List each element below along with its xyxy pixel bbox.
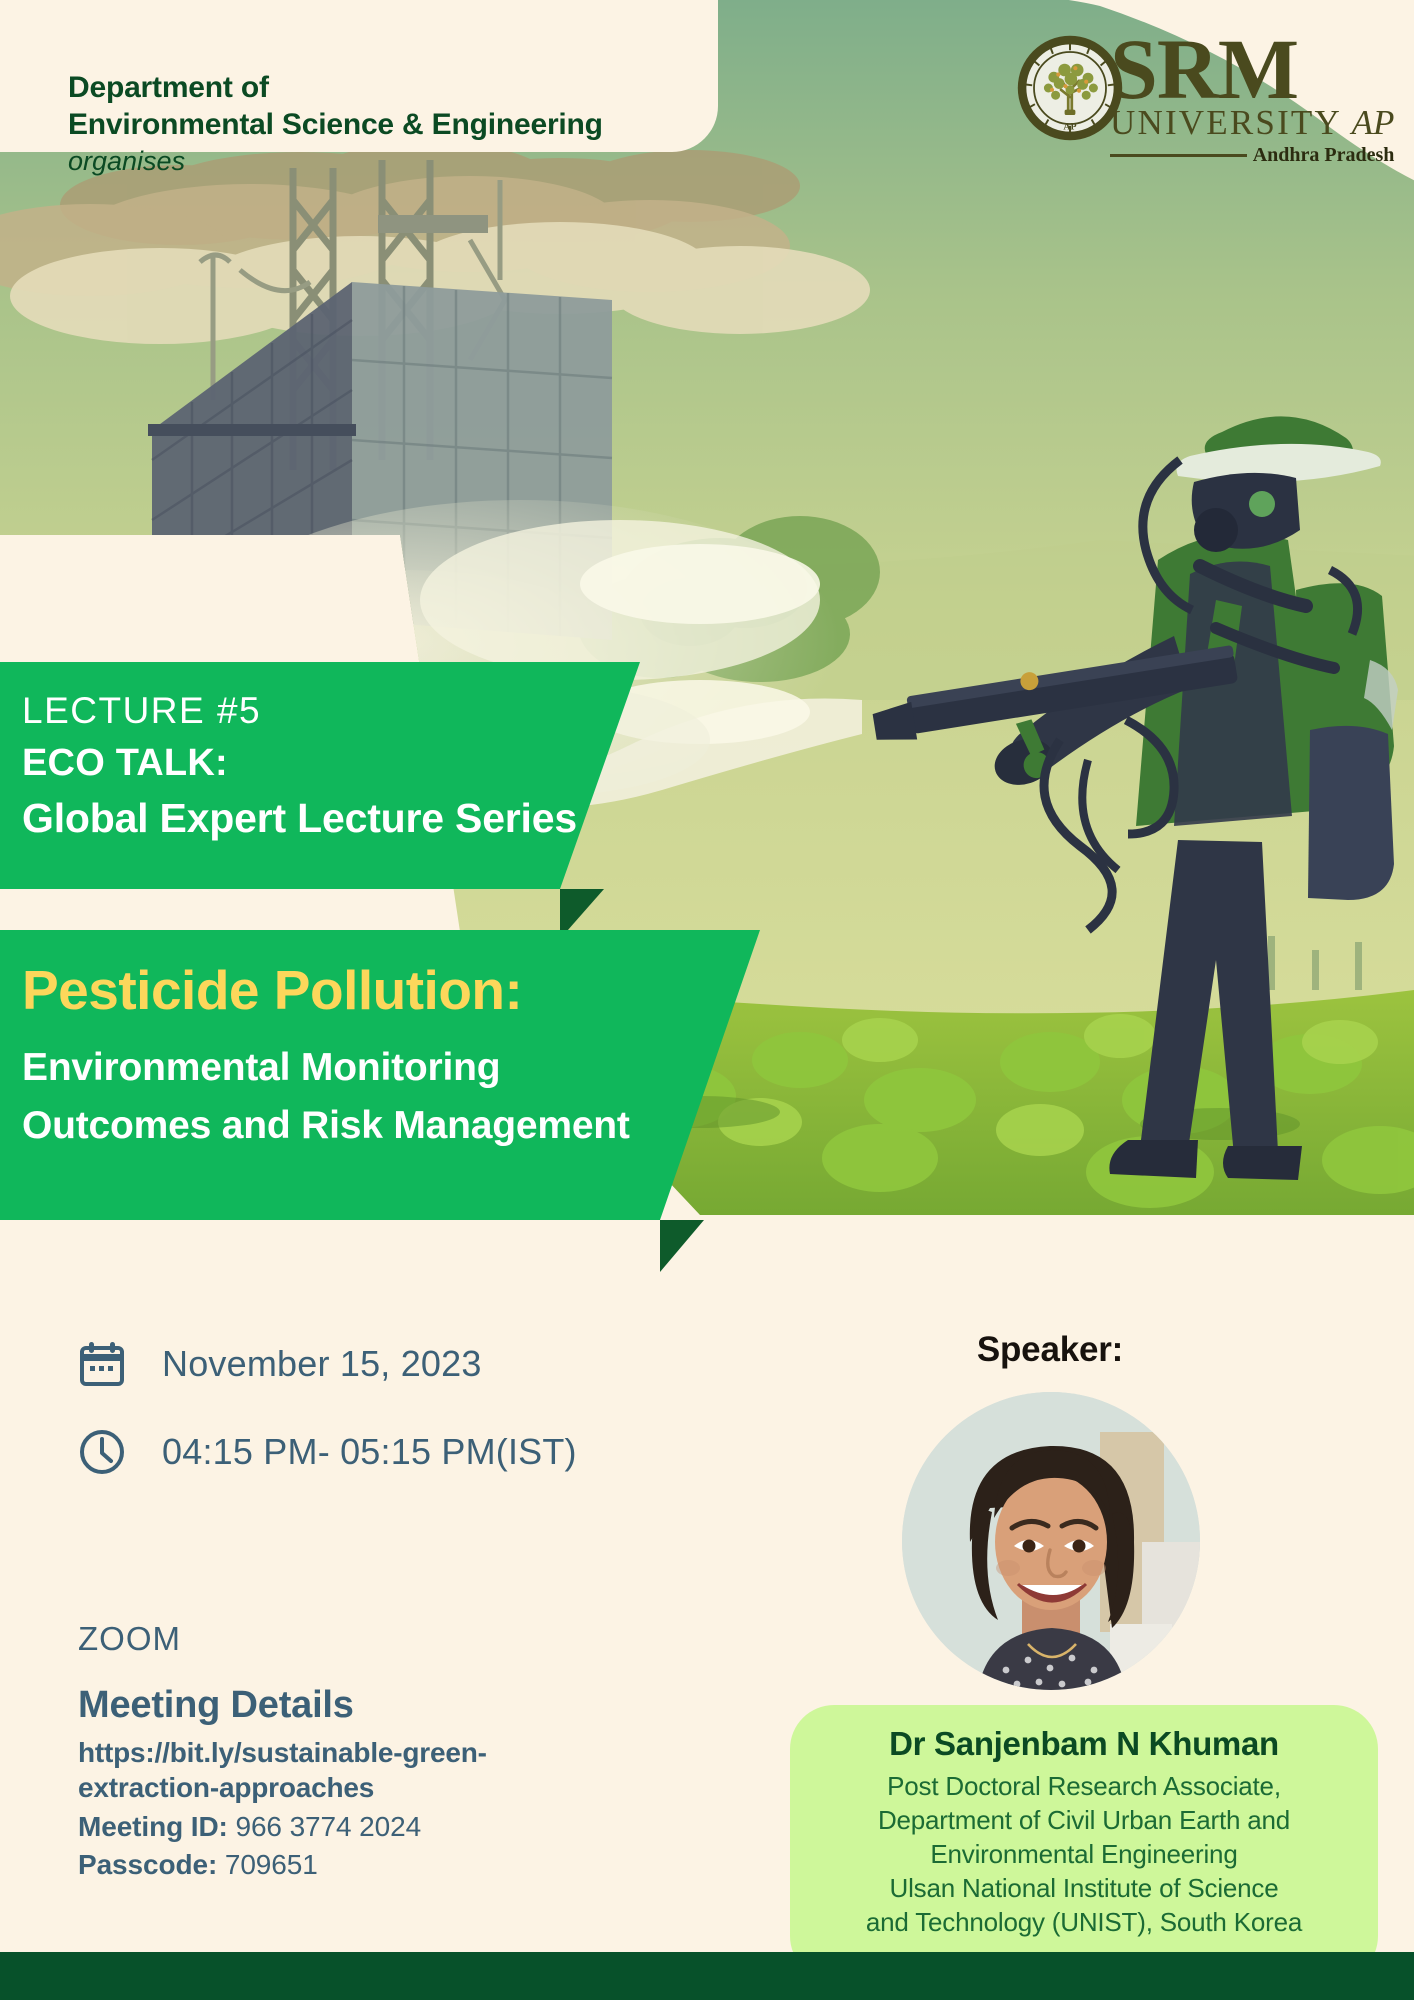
passcode-row: Passcode: 709651 — [78, 1849, 738, 1881]
poster-root: Department of Environmental Science & En… — [0, 0, 1414, 2000]
topic-title-banner: Pesticide Pollution: Environmental Monit… — [0, 930, 900, 1220]
passcode-label: Passcode: — [78, 1849, 217, 1880]
logo-divider-rule — [1110, 154, 1247, 157]
srm-state-row: Andhra Pradesh — [1110, 144, 1394, 167]
topic-subtitle-line-1: Environmental Monitoring — [22, 1039, 630, 1098]
affiliation-line-5: and Technology (UNIST), South Korea — [806, 1905, 1362, 1939]
clock-icon — [78, 1428, 126, 1476]
event-time: 04:15 PM- 05:15 PM(IST) — [162, 1431, 577, 1473]
affiliation-line-2: Department of Civil Urban Earth and — [806, 1803, 1362, 1837]
calendar-icon — [78, 1340, 126, 1388]
affiliation-line-3: Environmental Engineering — [806, 1837, 1362, 1871]
srm-university-logo: AP SRM UNIVERSITY AP Andhra Pradesh — [1016, 30, 1388, 162]
affiliation-line-4: Ulsan National Institute of Science — [806, 1871, 1362, 1905]
event-details: November 15, 2023 04:15 PM- 05:15 PM(IST… — [0, 1340, 700, 1516]
speaker-info-card: Dr Sanjenbam N Khuman Post Doctoral Rese… — [790, 1705, 1378, 1980]
srm-university-text: UNIVERSITY AP — [1110, 105, 1394, 140]
speaker-avatar — [902, 1392, 1200, 1690]
time-row: 04:15 PM- 05:15 PM(IST) — [0, 1428, 700, 1476]
topic-subtitle: Environmental Monitoring Outcomes and Ri… — [22, 1039, 630, 1156]
passcode-value: 709651 — [225, 1849, 318, 1880]
zoom-meeting-block: ZOOM Meeting Details https://bit.ly/sust… — [78, 1620, 738, 1881]
meeting-id-row: Meeting ID: 966 3774 2024 — [78, 1811, 738, 1843]
lecture-series-banner: LECTURE #5 ECO TALK: Global Expert Lectu… — [0, 662, 800, 889]
zoom-platform-label: ZOOM — [78, 1620, 738, 1658]
footer-bar — [0, 1952, 1414, 2000]
organises-label: organises — [68, 145, 603, 178]
eco-talk-label: ECO TALK: — [22, 736, 577, 791]
speaker-heading: Speaker: — [740, 1330, 1360, 1370]
meeting-link[interactable]: https://bit.ly/sustainable-green-extract… — [78, 1735, 623, 1805]
topic-title: Pesticide Pollution: — [22, 958, 630, 1023]
topic-banner-fold — [660, 1220, 704, 1272]
department-line-2: Environmental Science & Engineering — [68, 107, 603, 144]
topic-subtitle-line-2: Outcomes and Risk Management — [22, 1097, 630, 1156]
srm-seal-icon: AP — [1016, 34, 1124, 142]
event-date: November 15, 2023 — [162, 1343, 482, 1385]
speaker-affiliation: Post Doctoral Research Associate, Depart… — [806, 1769, 1362, 1939]
meeting-id-value: 966 3774 2024 — [235, 1811, 421, 1842]
department-line-1: Department of — [68, 70, 603, 107]
andhra-pradesh-text: Andhra Pradesh — [1253, 144, 1395, 167]
department-heading: Department of Environmental Science & En… — [68, 70, 603, 178]
topic-banner-text: Pesticide Pollution: Environmental Monit… — [22, 958, 630, 1156]
university-word: UNIVERSITY — [1110, 103, 1341, 142]
lecture-banner-text: LECTURE #5 ECO TALK: Global Expert Lectu… — [22, 688, 577, 847]
seal-ap-text: AP — [1063, 121, 1076, 132]
meeting-details-heading: Meeting Details — [78, 1684, 738, 1727]
srm-wordmark: SRM UNIVERSITY AP Andhra Pradesh — [1110, 30, 1394, 167]
ap-word: AP — [1352, 103, 1395, 142]
lecture-number: LECTURE #5 — [22, 688, 577, 734]
srm-text: SRM — [1110, 30, 1394, 109]
meeting-id-label: Meeting ID: — [78, 1811, 228, 1842]
date-row: November 15, 2023 — [0, 1340, 700, 1388]
speaker-portrait — [902, 1392, 1200, 1690]
speaker-name: Dr Sanjenbam N Khuman — [806, 1723, 1362, 1766]
lecture-series-title: Global Expert Lecture Series — [22, 791, 577, 846]
affiliation-line-1: Post Doctoral Research Associate, — [806, 1769, 1362, 1803]
